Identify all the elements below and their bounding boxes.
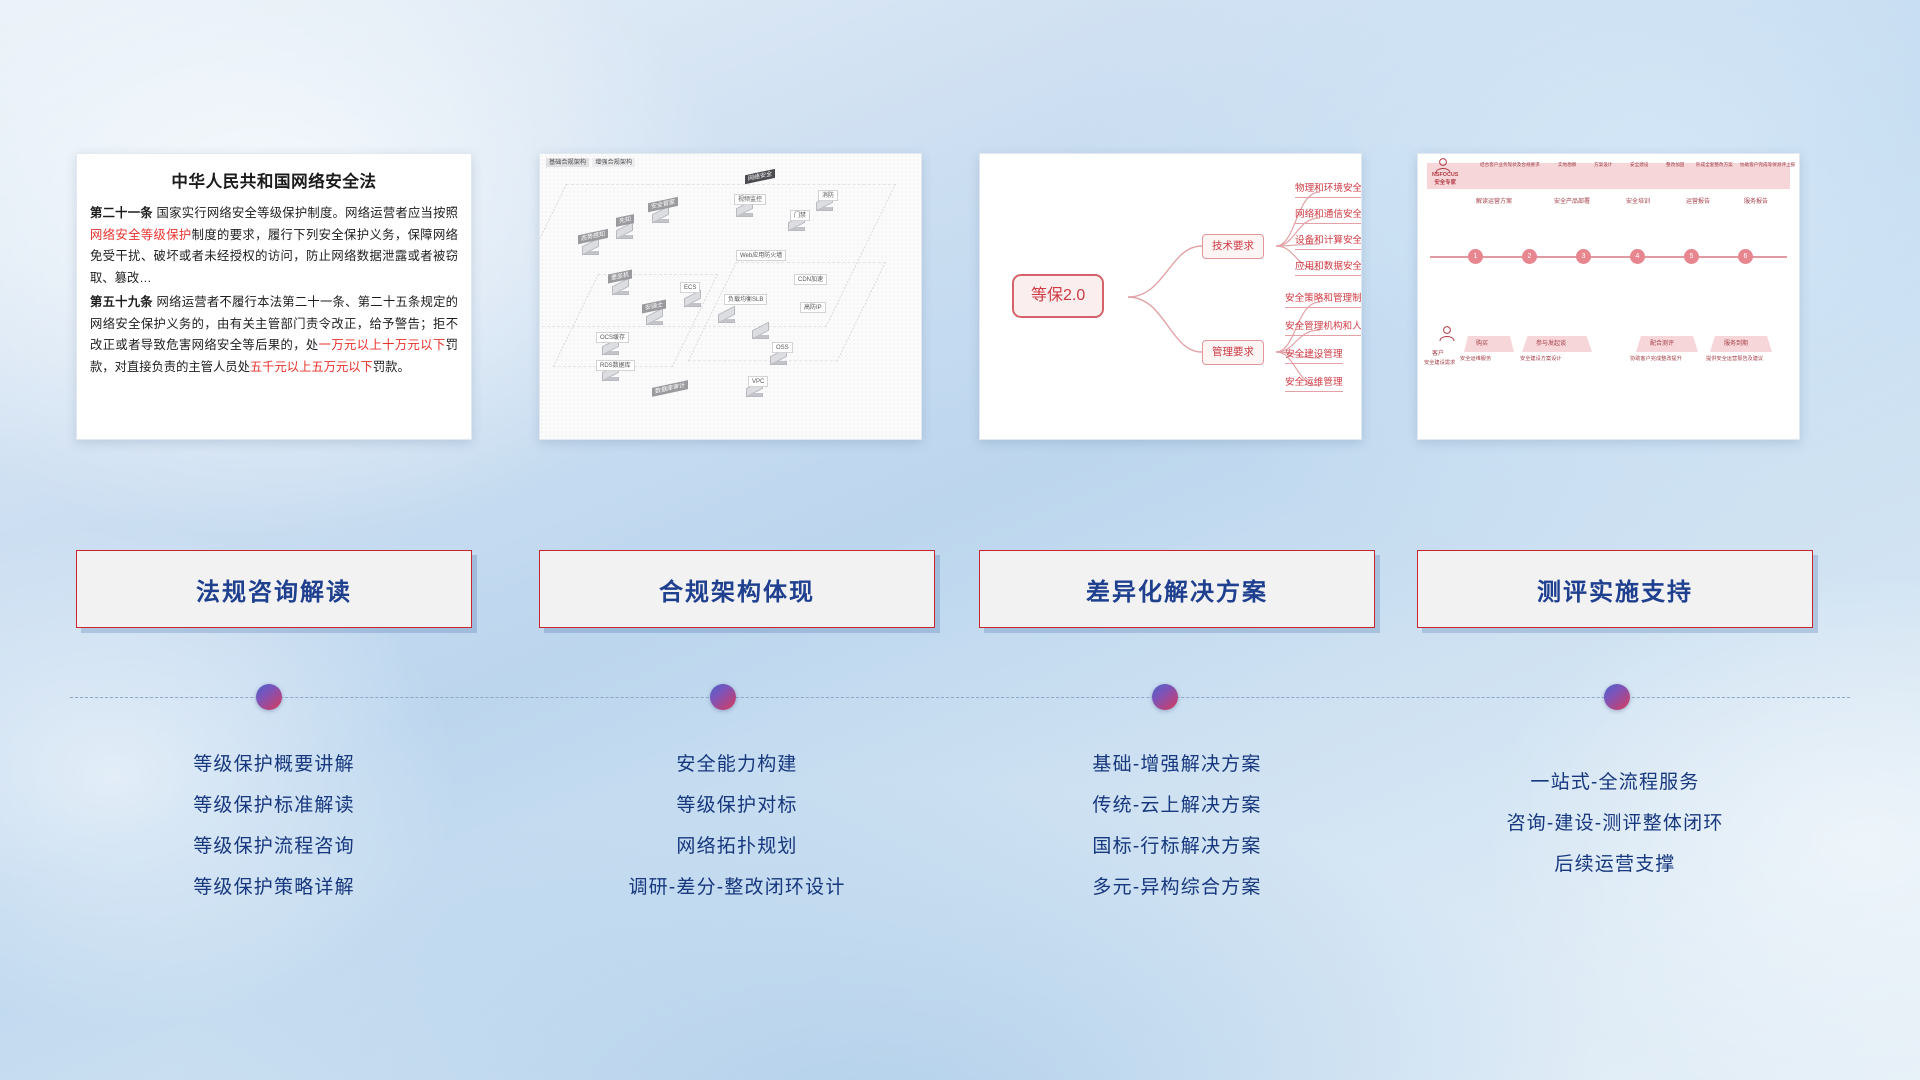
column-regulation-consulting: 等级保护概要讲解 等级保护标准解读 等级保护流程咨询 等级保护策略详解 — [76, 744, 472, 908]
mindmap-leaf: 安全建设管理 — [1285, 350, 1343, 364]
column-differentiated-solutions: 基础-增强解决方案 传统-云上解决方案 国标-行标解决方案 多元-异构综合方案 — [979, 744, 1375, 908]
arch-node: VPC — [748, 376, 768, 387]
arch-node: 门禁 — [790, 210, 810, 221]
title-box-4[interactable]: 测评实施支持 — [1417, 550, 1813, 628]
roadmap-top-label: 安全建设 — [1630, 163, 1648, 168]
roadmap-step: 4 — [1630, 249, 1645, 264]
roadmap-customer-role: 客户 — [1432, 350, 1444, 359]
mindmap-leaf: 物理和环境安全 — [1295, 184, 1362, 198]
law-run-highlight: 一万元以上十万元以下 — [319, 338, 446, 352]
arch-node: 负载均衡SLB — [724, 294, 767, 305]
law-article-number: 第五十九条 — [90, 295, 153, 309]
compliance-architecture-card: 基础合规架构 增强合规架构 网络安全 安全管家 — [539, 153, 922, 440]
tab-enhanced-compliance[interactable]: 增强合规架构 — [592, 158, 635, 167]
timeline-track — [70, 697, 1850, 698]
law-paragraph: 第五十九条 网络运营者不履行本法第二十一条、第二十五条规定的网络安全保护义务的，… — [90, 292, 458, 378]
roadmap-top-label: 协助客户完成等保测评上报 — [1740, 163, 1795, 168]
roadmap-bottom-title: 参与发起谈 — [1536, 340, 1566, 349]
arch-node: Web应用防火墙 — [736, 250, 786, 261]
list-item: 等级保护流程咨询 — [76, 826, 472, 867]
roadmap-bottom-shape — [1464, 336, 1514, 352]
cybersecurity-law-card: 中华人民共和国网络安全法 第二十一条 国家实行网络安全等级保护制度。网络运营者应… — [76, 153, 472, 440]
roadmap-stage-label: 运营报告 — [1686, 198, 1710, 207]
mindmap-canvas: 等保2.0 技术要求 管理要求 物理和环境安全 网络和通信安全 设备和计算安全 … — [980, 154, 1361, 439]
arch-node: ECS — [680, 282, 700, 293]
mindmap-leaf: 设备和计算安全 — [1295, 236, 1362, 250]
roadmap-top-label: 实地勘察 — [1558, 163, 1576, 168]
mindmap-leaf: 安全策略和管理制度 — [1285, 294, 1362, 308]
roadmap-stage-label: 服务报告 — [1744, 198, 1768, 207]
roadmap-brand-sub: 安全专家 — [1432, 180, 1458, 188]
roadmap-top-label: 整改加固 — [1666, 163, 1684, 168]
roadmap-step: 1 — [1468, 249, 1483, 264]
roadmap-step: 6 — [1738, 249, 1753, 264]
roadmap-stage-label: 解读运营方案 — [1476, 198, 1512, 207]
timeline-dot-2[interactable] — [710, 684, 736, 710]
architecture-tab-list[interactable]: 基础合规架构 增强合规架构 — [546, 158, 635, 167]
roadmap-bottom-title: 购买 — [1476, 340, 1488, 349]
roadmap-top-label: 结合客户业务现状及合规要求 — [1480, 163, 1540, 168]
list-item: 调研-差分-整改闭环设计 — [539, 867, 935, 908]
mindmap-branch-management: 管理要求 — [1202, 340, 1264, 365]
list-item: 咨询-建设-测评整体闭环 — [1417, 803, 1813, 844]
title-box-3-label: 差异化解决方案 — [1086, 572, 1268, 607]
roadmap-canvas: NSFOCUS 安全专家 结合客户业务现状及合规要求 实地勘察 方案设计 安全建… — [1418, 154, 1799, 439]
roadmap-step: 5 — [1684, 249, 1699, 264]
title-box-4-label: 测评实施支持 — [1537, 572, 1693, 607]
arch-node: OCS缓存 — [596, 332, 629, 343]
mindmap-branch-technical: 技术要求 — [1202, 234, 1264, 259]
mindmap-leaf: 安全管理机构和人员 — [1285, 322, 1362, 336]
timeline-dot-4[interactable] — [1604, 684, 1630, 710]
roadmap-timeline-line — [1430, 256, 1787, 258]
title-box-1-label: 法规咨询解读 — [196, 572, 352, 607]
arch-node: 数据库审计 — [652, 380, 688, 397]
content-stage: 中华人民共和国网络安全法 第二十一条 国家实行网络安全等级保护制度。网络运营者应… — [0, 0, 1920, 1080]
list-item: 多元-异构综合方案 — [979, 867, 1375, 908]
customer-icon — [1436, 324, 1458, 346]
column-evaluation-support: 一站式-全流程服务 咨询-建设-测评整体闭环 后续运营支撑 — [1417, 762, 1813, 885]
law-run: 国家实行网络安全等级保护制度。网络运营者应当按照 — [153, 206, 458, 220]
column-compliance-architecture: 安全能力构建 等级保护对标 网络拓扑规划 调研-差分-整改闭环设计 — [539, 744, 935, 908]
roadmap-top-label: 方案设计 — [1594, 163, 1612, 168]
arch-node: CDN加速 — [794, 274, 827, 285]
mindmap-leaf: 网络和通信安全 — [1295, 210, 1362, 224]
roadmap-top-label: 形成全套整改方案 — [1696, 163, 1733, 168]
arch-node: 消防 — [818, 190, 838, 201]
arch-node: OSS — [772, 342, 793, 353]
law-card-body: 第二十一条 国家实行网络安全等级保护制度。网络运营者应当按照网络安全等级保护制度… — [77, 203, 471, 391]
list-item: 安全能力构建 — [539, 744, 935, 785]
roadmap-bottom-title: 配合测评 — [1650, 340, 1674, 349]
tab-basic-compliance[interactable]: 基础合规架构 — [546, 158, 589, 167]
list-item: 网络拓扑规划 — [539, 826, 935, 867]
list-item: 等级保护对标 — [539, 785, 935, 826]
arch-node: 视频监控 — [734, 194, 766, 205]
timeline-dot-1[interactable] — [256, 684, 282, 710]
roadmap-bottom-sub: 安全建设方案设计 — [1520, 356, 1562, 364]
roadmap-stage-label: 安全产品部署 — [1554, 198, 1590, 207]
roadmap-stage-label: 安全培训 — [1626, 198, 1650, 207]
timeline-dot-3[interactable] — [1152, 684, 1178, 710]
roadmap-bottom-sub: 提供安全运营报告及建议 — [1706, 356, 1763, 364]
law-article-number: 第二十一条 — [90, 206, 153, 220]
list-item: 后续运营支撑 — [1417, 844, 1813, 885]
arch-node: 网络安全 — [745, 169, 775, 184]
title-box-3[interactable]: 差异化解决方案 — [979, 550, 1375, 628]
list-item: 等级保护标准解读 — [76, 785, 472, 826]
list-item: 传统-云上解决方案 — [979, 785, 1375, 826]
architecture-canvas: 基础合规架构 增强合规架构 网络安全 安全管家 — [540, 154, 921, 439]
mindmap-root-node: 等保2.0 — [1012, 274, 1104, 318]
arch-node: 高防IP — [800, 302, 826, 313]
law-run-highlight: 网络安全等级保护 — [90, 228, 192, 242]
list-item: 国标-行标解决方案 — [979, 826, 1375, 867]
law-card-title: 中华人民共和国网络安全法 — [77, 168, 471, 192]
roadmap-bottom-title: 服务到期 — [1724, 340, 1748, 349]
nsfocus-roadmap-card: NSFOCUS 安全专家 结合客户业务现状及合规要求 实地勘察 方案设计 安全建… — [1417, 153, 1800, 440]
list-item: 一站式-全流程服务 — [1417, 762, 1813, 803]
person-icon — [1432, 156, 1454, 178]
law-run: 罚款。 — [373, 360, 410, 374]
mindmap-leaf: 安全运维管理 — [1285, 378, 1343, 392]
list-item: 等级保护策略详解 — [76, 867, 472, 908]
roadmap-step: 3 — [1576, 249, 1591, 264]
title-box-2-label: 合规架构体现 — [659, 572, 815, 607]
law-paragraph: 第二十一条 国家实行网络安全等级保护制度。网络运营者应当按照网络安全等级保护制度… — [90, 203, 458, 289]
arch-node: RDS数据库 — [596, 360, 635, 371]
roadmap-customer-note: 安全建设需求 — [1424, 360, 1455, 368]
djcp-mindmap-card: 等保2.0 技术要求 管理要求 物理和环境安全 网络和通信安全 设备和计算安全 … — [979, 153, 1362, 440]
list-item: 基础-增强解决方案 — [979, 744, 1375, 785]
roadmap-step: 2 — [1522, 249, 1537, 264]
roadmap-bottom-sub: 安全运维服务 — [1460, 356, 1491, 364]
list-item: 等级保护概要讲解 — [76, 744, 472, 785]
roadmap-bottom-sub: 协助客户完成整改提升 — [1630, 356, 1682, 364]
law-run-highlight: 五千元以上五万元以下 — [250, 360, 373, 374]
title-box-1[interactable]: 法规咨询解读 — [76, 550, 472, 628]
title-box-2[interactable]: 合规架构体现 — [539, 550, 935, 628]
mindmap-leaf: 应用和数据安全 — [1295, 262, 1362, 276]
